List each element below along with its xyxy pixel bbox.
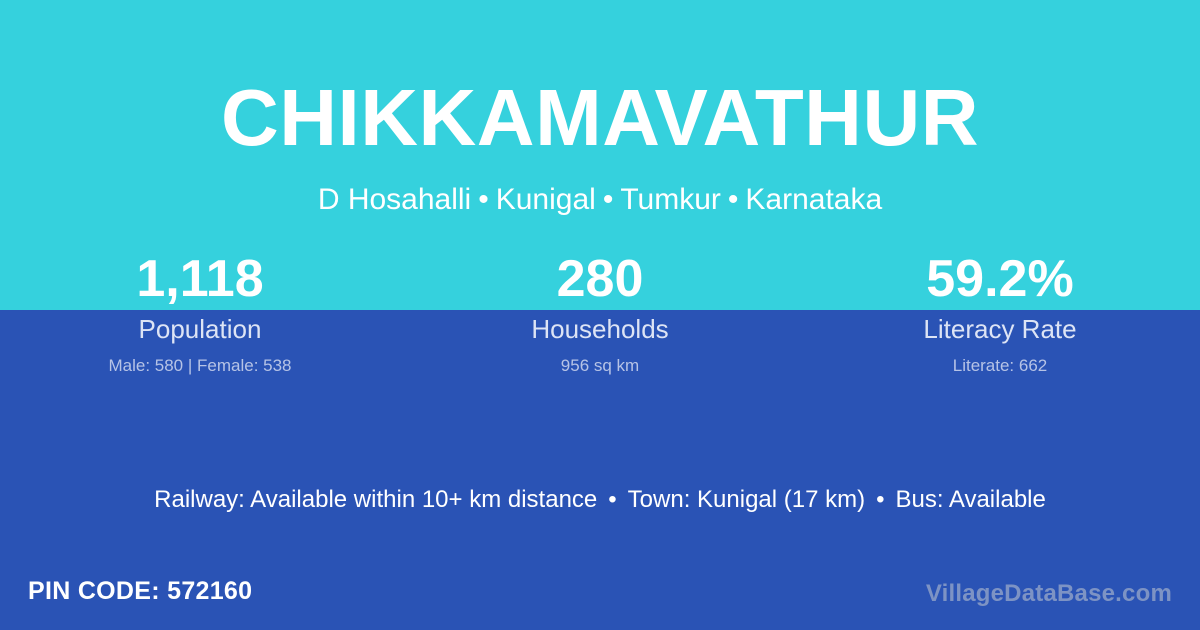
stat-sublabel: 956 sq km bbox=[400, 354, 800, 378]
stats-row: 1,118 Population Male: 580 | Female: 538… bbox=[0, 248, 1200, 378]
breadcrumb-separator: • bbox=[721, 183, 746, 216]
stat-value: 280 bbox=[400, 248, 800, 310]
breadcrumb-separator: • bbox=[596, 183, 621, 216]
breadcrumb: D Hosahalli•Kunigal•Tumkur•Karnataka bbox=[0, 182, 1200, 218]
amenity-separator: • bbox=[597, 486, 627, 513]
stat-label: Population bbox=[0, 312, 400, 346]
stat-value: 1,118 bbox=[0, 248, 400, 310]
village-info-card: CHIKKAMAVATHUR D Hosahalli•Kunigal•Tumku… bbox=[0, 0, 1200, 630]
page-title: CHIKKAMAVATHUR bbox=[0, 78, 1200, 158]
amenity-town: Town: Kunigal (17 km) bbox=[628, 486, 865, 513]
breadcrumb-item-district: Tumkur bbox=[620, 183, 721, 216]
stat-sublabel: Literate: 662 bbox=[800, 354, 1200, 378]
breadcrumb-separator: • bbox=[471, 183, 496, 216]
stat-population: 1,118 Population Male: 580 | Female: 538 bbox=[0, 248, 400, 378]
stat-label: Literacy Rate bbox=[800, 312, 1200, 346]
stat-value: 59.2% bbox=[800, 248, 1200, 310]
breadcrumb-item-state: Karnataka bbox=[745, 183, 882, 216]
amenity-railway: Railway: Available within 10+ km distanc… bbox=[154, 486, 597, 513]
breadcrumb-item-hamlet: D Hosahalli bbox=[318, 183, 471, 216]
breadcrumb-item-taluk: Kunigal bbox=[496, 183, 596, 216]
site-brand: VillageDataBase.com bbox=[926, 578, 1172, 610]
amenity-bus: Bus: Available bbox=[896, 486, 1046, 513]
stat-sublabel: Male: 580 | Female: 538 bbox=[0, 354, 400, 378]
amenities-line: Railway: Available within 10+ km distanc… bbox=[0, 484, 1200, 516]
stat-literacy-rate: 59.2% Literacy Rate Literate: 662 bbox=[800, 248, 1200, 378]
pin-code: PIN CODE: 572160 bbox=[28, 575, 252, 607]
amenity-separator: • bbox=[865, 486, 895, 513]
stat-label: Households bbox=[400, 312, 800, 346]
stat-households: 280 Households 956 sq km bbox=[400, 248, 800, 378]
